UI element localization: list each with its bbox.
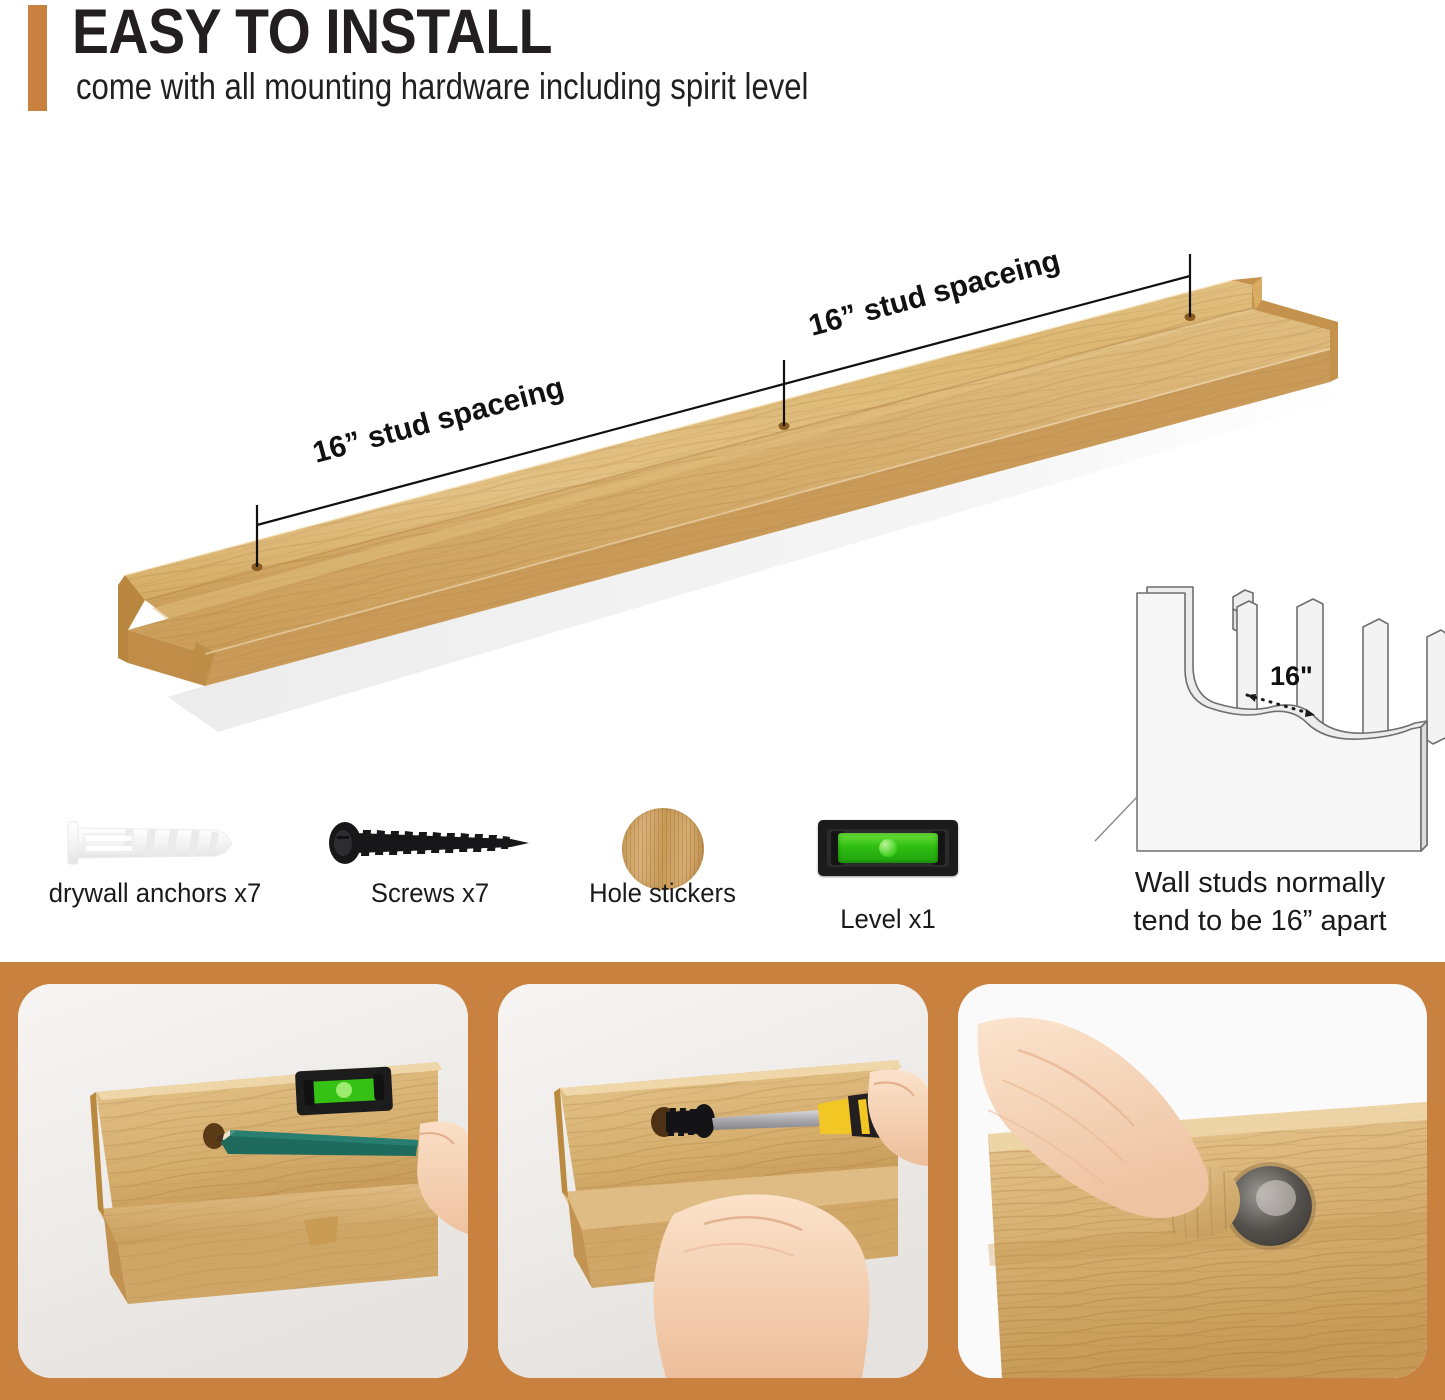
- included-hardware-row: drywall anchors x7: [0, 800, 1080, 950]
- step-photo-mark-hole: [18, 984, 468, 1378]
- accent-bar: [28, 5, 47, 111]
- page-title: EASY TO INSTALL: [72, 0, 552, 68]
- wall-stud: [1427, 630, 1445, 744]
- stud-dimension-label: 16": [1270, 661, 1313, 691]
- wall-stud: [1363, 619, 1388, 741]
- dimension-label-left: 16” stud spaceing: [309, 371, 567, 470]
- dimension-label-right: 16” stud spaceing: [805, 244, 1063, 343]
- screw-icon: [315, 808, 545, 878]
- drywall-anchor-icon: [40, 808, 270, 878]
- spirit-level-icon: [295, 1067, 393, 1116]
- caption-line-2: tend to be 16” apart: [1075, 903, 1445, 941]
- step-photo-apply-sticker: [958, 984, 1427, 1378]
- hardware-item-screws: Screws x7: [300, 808, 560, 909]
- hardware-item-hole-stickers: Hole stickers: [560, 808, 765, 909]
- hardware-item-drywall-anchors: drywall anchors x7: [10, 808, 300, 909]
- page-subtitle: come with all mounting hardware includin…: [76, 66, 808, 108]
- hardware-item-level: Level x1: [768, 808, 1008, 935]
- hardware-label: Hole stickers: [565, 878, 760, 909]
- installation-steps-strip: [0, 962, 1445, 1400]
- wall-studs-caption: Wall studs normally tend to be 16” apart: [1075, 865, 1445, 940]
- hardware-label: drywall anchors x7: [17, 878, 293, 909]
- hardware-label: Level x1: [774, 904, 1002, 935]
- hand: [654, 1194, 870, 1378]
- page-header: EASY TO INSTALL come with all mounting h…: [0, 0, 1445, 130]
- caption-line-1: Wall studs normally: [1075, 865, 1445, 903]
- hardware-label: Screws x7: [307, 878, 554, 909]
- step-photo-drive-screw: [498, 984, 928, 1378]
- spirit-level-icon: [818, 820, 958, 876]
- screw-icon: [651, 1104, 715, 1138]
